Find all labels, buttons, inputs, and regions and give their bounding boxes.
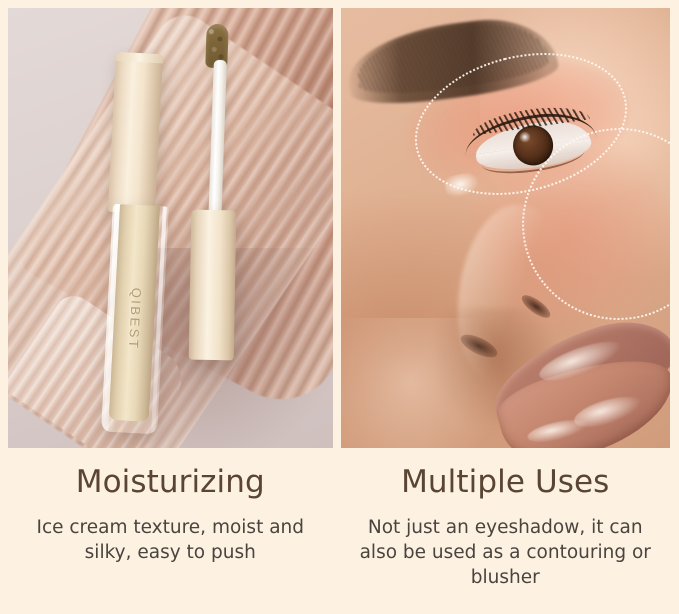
feature-description: Ice cream texture, moist and silky, easy… [14,515,327,565]
feature-title: Moisturizing [14,465,327,500]
feature-description: Not just an eyeshadow, it can also be us… [347,515,665,590]
applicator-cap [189,210,237,361]
product-feature-infographic: QIBEST Moisturizing Ice cream texture, m… [0,0,679,614]
concealer-product-photo: QIBEST [8,8,333,448]
caption-moisturizing: Moisturizing Ice cream texture, moist an… [8,448,333,614]
chin-highlight [341,318,501,448]
concealer-tube-body: QIBEST [101,204,169,435]
caption-multiple-uses: Multiple Uses Not just an eyeshadow, it … [341,448,671,614]
concealer-cap [108,52,163,214]
feature-panel-moisturizing: QIBEST Moisturizing Ice cream texture, m… [0,0,340,614]
feature-panel-multiple-uses: Multiple Uses Not just an eyeshadow, it … [340,0,679,614]
model-face-photo [341,8,671,448]
feature-title: Multiple Uses [347,465,665,500]
